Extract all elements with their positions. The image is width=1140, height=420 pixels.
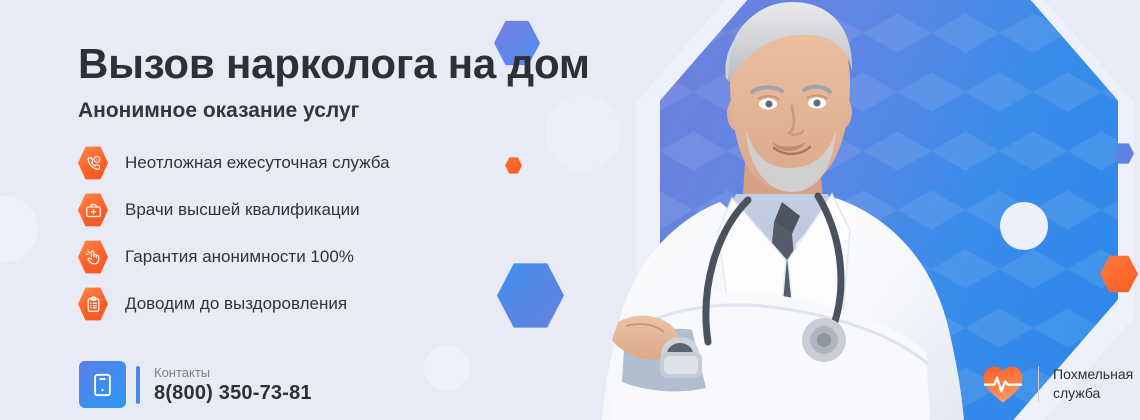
medical-bag-icon (78, 193, 108, 227)
hand-privacy-icon (78, 240, 108, 274)
hexagon-blue-shape (660, 0, 1118, 420)
logo-text: Похмельная служба (1053, 365, 1133, 403)
logo-divider (1038, 366, 1039, 402)
hexagon-pattern-overlay (660, 0, 1118, 420)
svg-text:24: 24 (95, 157, 99, 161)
promo-banner: Вызов нарколога на дом Анонимное оказани… (0, 0, 1140, 420)
decor-hexagon-blue-right (1113, 143, 1134, 164)
contacts-block[interactable]: Контакты 8(800) 350-73-81 (79, 361, 312, 408)
feature-label: Гарантия анонимности 100% (125, 247, 354, 267)
page-subtitle: Анонимное оказание услуг (78, 97, 359, 125)
brand-logo[interactable]: Похмельная служба (982, 364, 1133, 404)
hexagon-halo-shape (636, 0, 1134, 420)
contacts-text: Контакты 8(800) 350-73-81 (154, 364, 312, 406)
doctor-photo (596, 0, 968, 420)
feature-label: Доводим до выздоровления (125, 294, 347, 314)
contacts-divider (136, 366, 140, 404)
feature-label: Неотложная ежесуточная служба (125, 153, 390, 173)
heart-pulse-icon (982, 364, 1024, 404)
clipboard-checklist-icon (78, 287, 108, 321)
decor-hexagon-orange-right (1100, 255, 1138, 293)
phone-24h-icon: 24 (78, 146, 108, 180)
feature-label: Врачи высшей квалификации (125, 200, 360, 220)
banner-content: Вызов нарколога на дом Анонимное оказани… (0, 0, 640, 420)
mobile-phone-icon (79, 361, 126, 408)
list-item: Доводим до выздоровления (78, 283, 390, 325)
contacts-phone[interactable]: 8(800) 350-73-81 (154, 381, 312, 406)
contacts-label: Контакты (154, 364, 312, 381)
feature-list: 24 Неотложная ежесуточная служба Врачи в… (78, 142, 390, 330)
page-title: Вызов нарколога на дом (78, 38, 590, 90)
list-item: 24 Неотложная ежесуточная служба (78, 142, 390, 184)
list-item: Гарантия анонимности 100% (78, 236, 390, 278)
list-item: Врачи высшей квалификации (78, 189, 390, 231)
decor-circle-on-blue (1000, 202, 1048, 250)
